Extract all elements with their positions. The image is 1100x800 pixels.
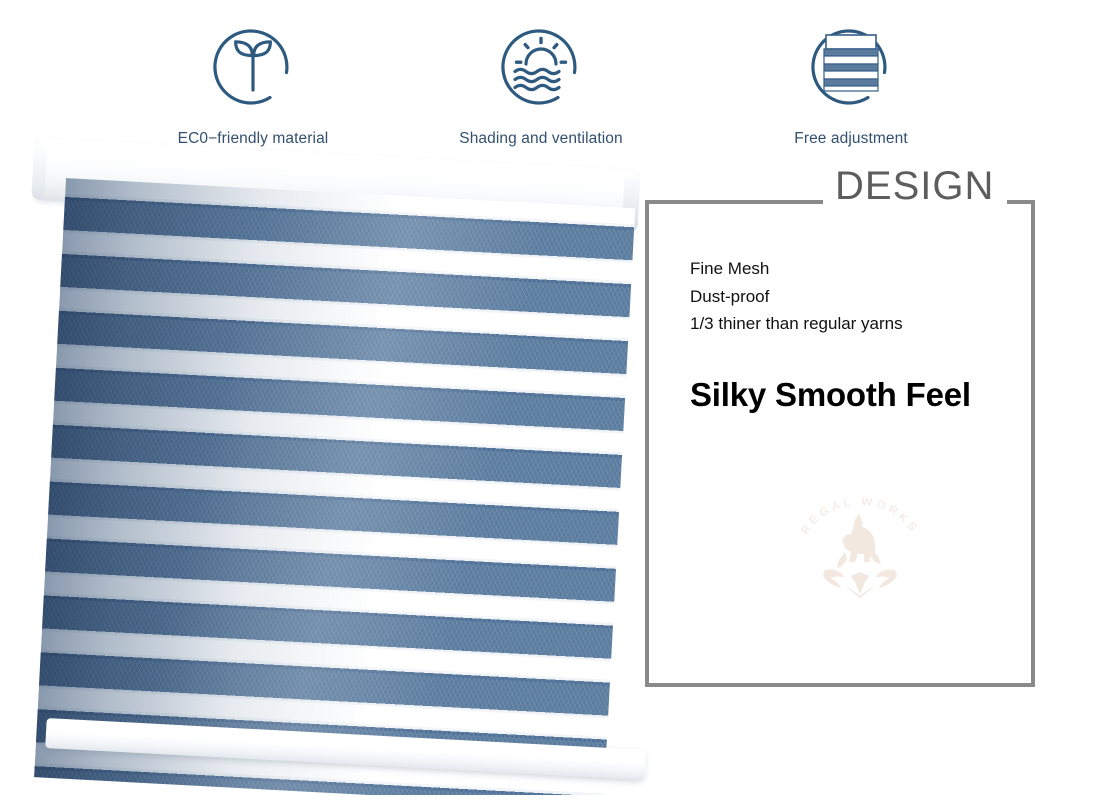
feature-eco-friendly: EC0−friendly material: [153, 8, 353, 148]
design-panel-title: DESIGN: [835, 166, 994, 206]
fabric-shading-overlay: [34, 178, 635, 795]
panel-border-bottom: [645, 683, 1035, 687]
spec-list: Fine Mesh Dust-proof 1/3 thiner than reg…: [690, 255, 903, 338]
zebra-blind-in-circle-icon: [795, 8, 907, 120]
sun-over-waves-in-circle-icon: [485, 8, 597, 120]
design-headline: Silky Smooth Feel: [690, 376, 971, 414]
panel-border-top-left: [645, 200, 823, 204]
design-panel: DESIGN Fine Mesh Dust-proof 1/3 thiner t…: [645, 200, 1035, 687]
panel-border-right: [1031, 200, 1035, 687]
product-image-zebra-blind: [18, 130, 658, 795]
unicorn-crest-icon: [823, 514, 897, 598]
blind-fabric-stripes: [34, 178, 635, 795]
product-marketing-banner: EC0−friendly material Shading and ventil…: [0, 0, 1100, 800]
spec-item: Fine Mesh: [690, 255, 903, 283]
regal-works-watermark: REGAL WORKS: [785, 490, 935, 600]
panel-border-left: [645, 200, 649, 687]
sprout-in-circle-icon: [197, 8, 309, 120]
spec-item: Dust-proof: [690, 283, 903, 311]
feature-label: Free adjustment: [751, 130, 951, 148]
blind-illustration: [18, 130, 658, 795]
panel-border-top-right: [1007, 200, 1035, 204]
feature-free-adjustment: Free adjustment: [751, 8, 951, 148]
spec-item: 1/3 thiner than regular yarns: [690, 310, 903, 338]
feature-shading-ventilation: Shading and ventilation: [441, 8, 641, 148]
